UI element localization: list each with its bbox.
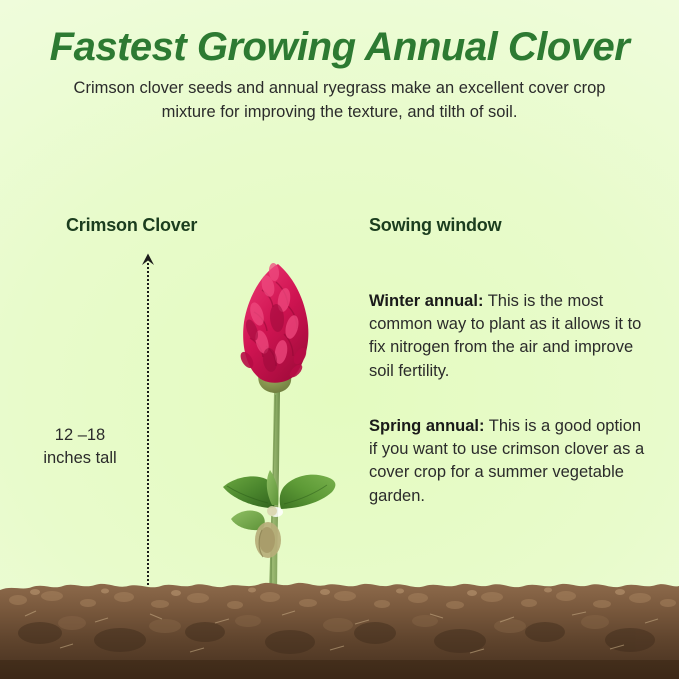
sowing-item-winter-annual: Winter annual: This is the most common w…	[369, 290, 645, 384]
measurement-unit: inches tall	[43, 449, 116, 467]
sowing-item-spring-label: Spring annual:	[369, 417, 485, 435]
measurement-value: 12 –18	[55, 426, 105, 444]
sowing-item-winter-label: Winter annual:	[369, 292, 483, 310]
height-measurement-label: 12 –18 inches tall	[24, 424, 136, 471]
height-guide-line	[147, 263, 149, 585]
sowing-item-spring-annual: Spring annual: This is a good option if …	[369, 415, 645, 509]
plant-stem	[269, 392, 280, 596]
infographic-canvas: Fastest Growing Annual Clover Crimson cl…	[0, 0, 679, 679]
section-heading-sowing-window: Sowing window	[369, 215, 501, 236]
trifoliate-leaves	[223, 470, 335, 558]
page-subtitle: Crimson clover seeds and annual ryegrass…	[55, 77, 625, 124]
soil-texture	[0, 578, 679, 679]
page-title: Fastest Growing Annual Clover	[0, 26, 679, 69]
crimson-clover-flower-head	[238, 263, 309, 393]
header-block: Fastest Growing Annual Clover Crimson cl…	[0, 26, 679, 124]
section-heading-crimson-clover: Crimson Clover	[66, 215, 197, 236]
soil-bed	[0, 578, 679, 679]
